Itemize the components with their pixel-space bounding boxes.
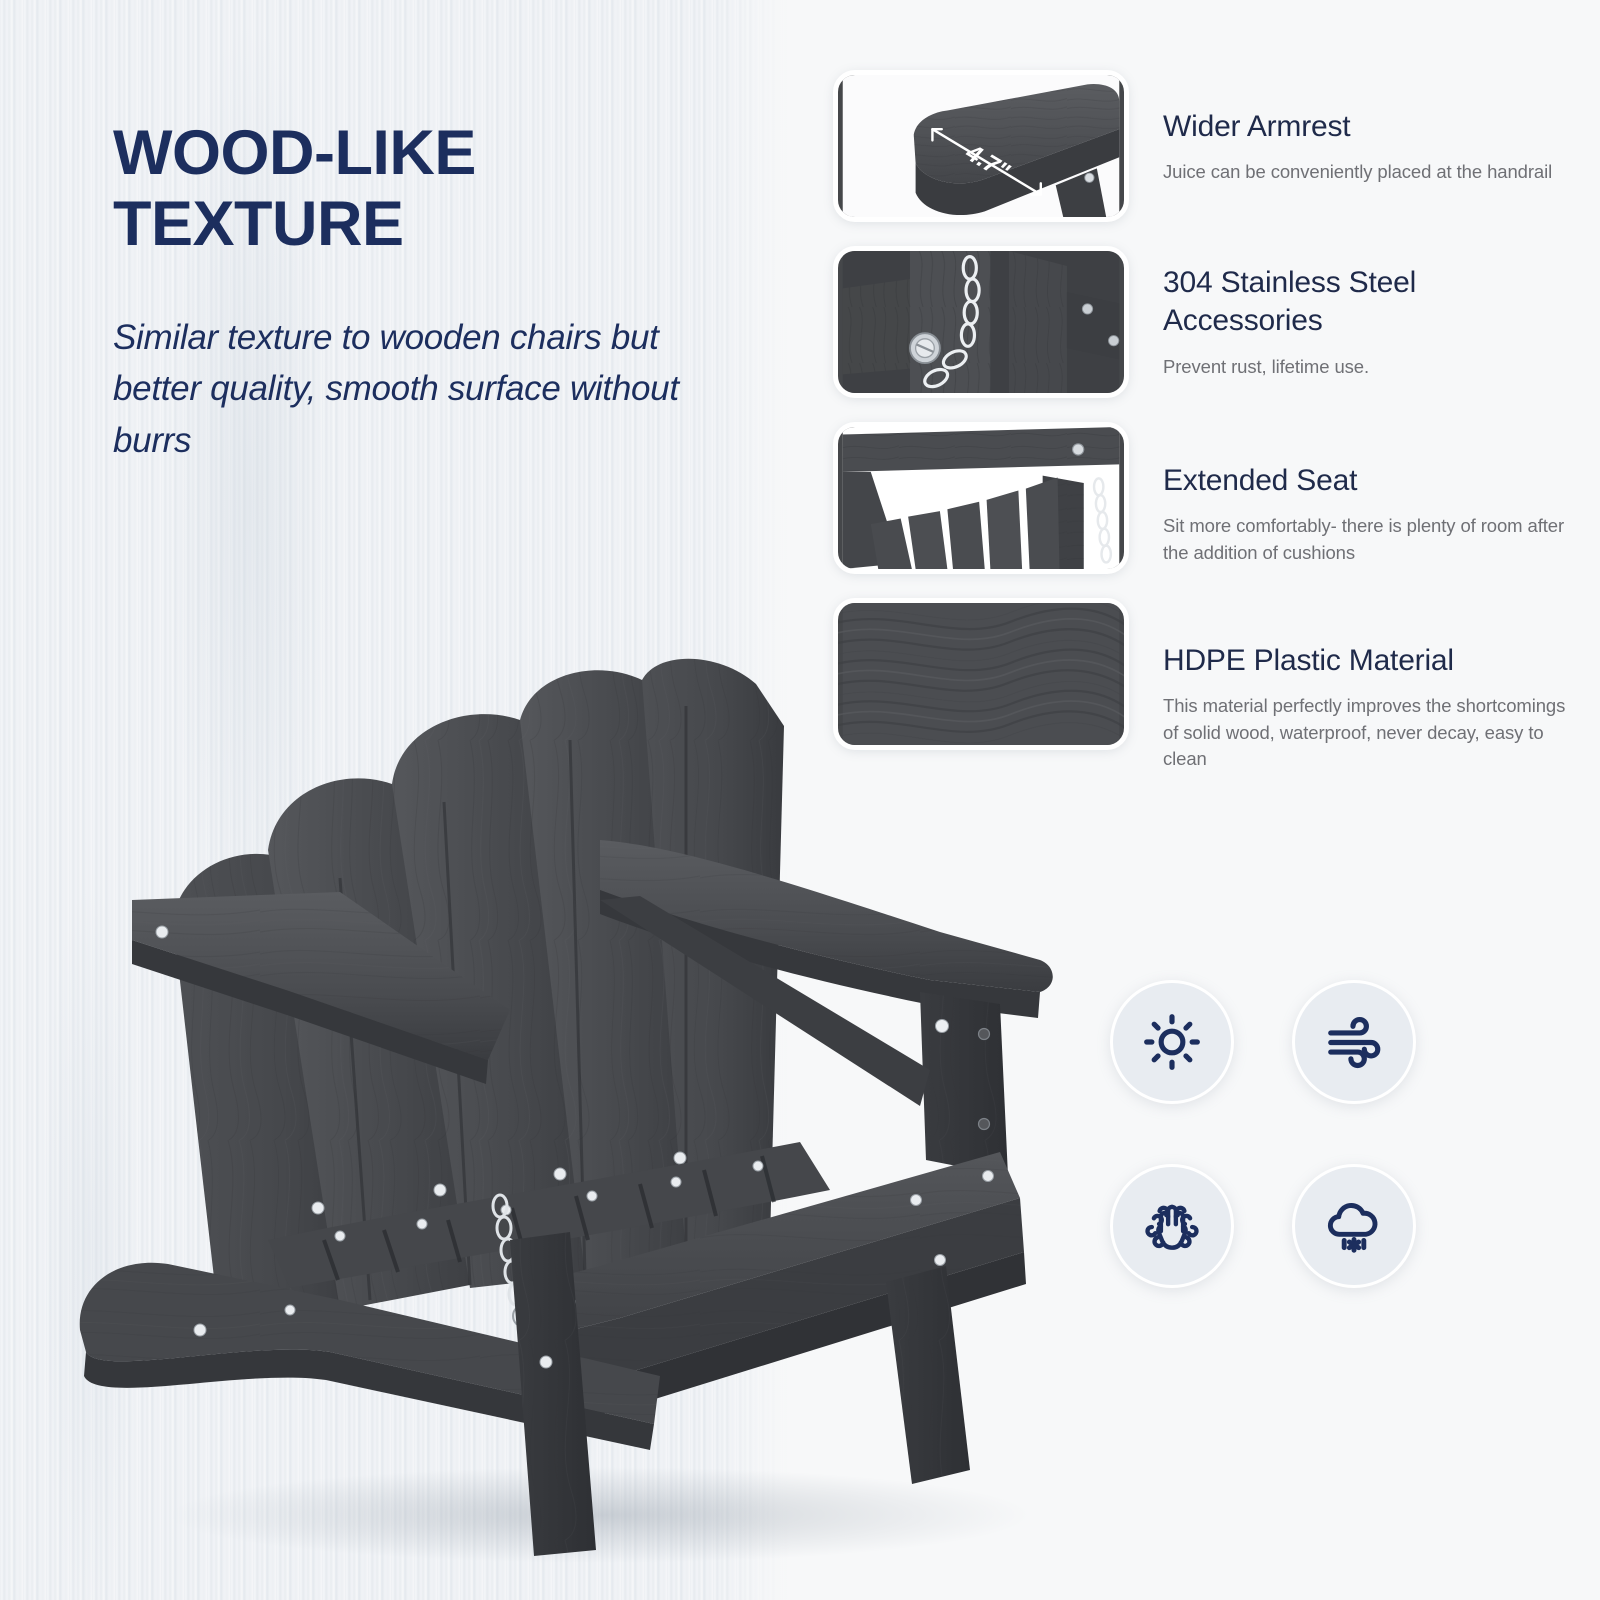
feature-title: 304 Stainless Steel Accessories [1163,264,1578,341]
snow-cloud-icon [1323,1195,1385,1257]
extended-seat-photo [833,422,1129,574]
stainless-bolt [910,333,940,363]
sun-icon [1141,1011,1203,1073]
hero-text-block: WOOD-LIKE TEXTURE Similar texture to woo… [113,118,753,466]
hero-subtitle: Similar texture to wooden chairs but bet… [113,312,753,465]
feature-text-block: HDPE Plastic Material This material perf… [1129,598,1578,773]
feature-text-block: 304 Stainless Steel Accessories Prevent … [1129,246,1578,380]
feature-title: Wider Armrest [1163,108,1552,146]
feature-item-hdpe-material: HDPE Plastic Material This material perf… [833,598,1578,773]
feature-description: Juice can be conveniently placed at the … [1163,159,1552,185]
badge-wind-resistant [1292,980,1416,1104]
feature-item-wider-armrest: 4.7" Wider Armrest Juice can be convenie… [833,70,1578,222]
badge-uv-resistant [1110,980,1234,1104]
armrest-dimension-photo: 4.7" [833,70,1129,222]
hdpe-grain-photo [833,598,1129,750]
durability-badge-group [1110,980,1490,1288]
impact-hand-icon [1141,1195,1203,1257]
feature-description: Sit more comfortably- there is plenty of… [1163,513,1578,566]
wind-icon [1323,1011,1385,1073]
badge-snow-rain-resistant [1292,1164,1416,1288]
feature-item-extended-seat: Extended Seat Sit more comfortably- ther… [833,422,1578,574]
page-title: WOOD-LIKE TEXTURE [113,118,753,260]
feature-description: Prevent rust, lifetime use. [1163,354,1578,380]
stainless-chain-photo [833,246,1129,398]
feature-text-block: Wider Armrest Juice can be conveniently … [1129,70,1552,186]
feature-title: HDPE Plastic Material [1163,642,1578,680]
feature-text-block: Extended Seat Sit more comfortably- ther… [1129,422,1578,566]
feature-title: Extended Seat [1163,462,1578,500]
feature-list: 4.7" Wider Armrest Juice can be convenie… [833,70,1578,797]
badge-impact-resistant [1110,1164,1234,1288]
feature-item-stainless-steel: 304 Stainless Steel Accessories Prevent … [833,246,1578,398]
feature-description: This material perfectly improves the sho… [1163,693,1578,772]
